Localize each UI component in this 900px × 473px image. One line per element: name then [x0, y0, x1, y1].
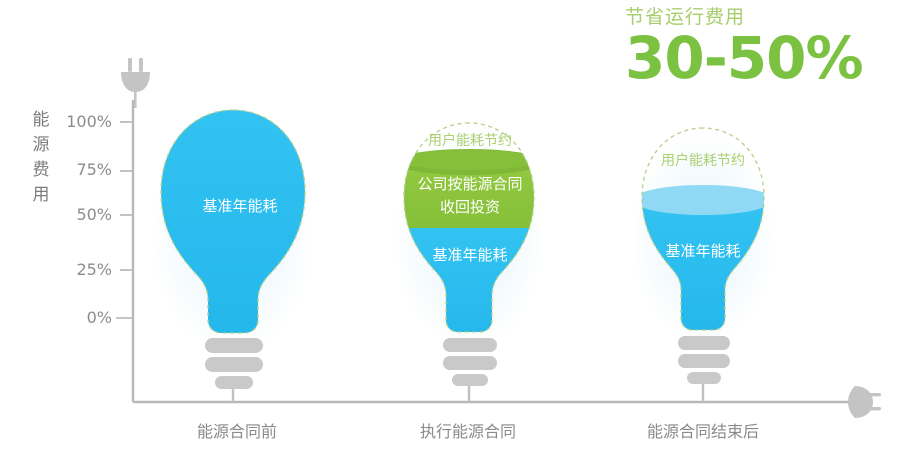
y-tick-label-75: 75% — [50, 160, 112, 179]
bulb-during-contract[interactable] — [394, 123, 545, 386]
power-plug-icon — [121, 58, 150, 108]
y-axis-ticks — [116, 122, 133, 318]
x-label-before-contract: 能源合同前 — [147, 418, 327, 442]
bulb1-base — [205, 338, 263, 389]
headline-block: 节省运行费用 30-50% — [625, 4, 895, 88]
y-axis-title-text: 能源费用 — [33, 110, 50, 205]
bulb2-recovery-top-highlight — [399, 150, 539, 170]
bulb3-base — [678, 336, 730, 384]
headline-value: 30-50% — [625, 28, 895, 88]
y-tick-label-0: 0% — [50, 308, 112, 327]
bulb2-base — [443, 338, 497, 386]
y-tick-label-25: 25% — [50, 260, 112, 279]
bulb3-liquid-surface — [633, 185, 773, 215]
power-socket-icon — [848, 386, 881, 418]
x-label-during-contract: 执行能源合同 — [378, 418, 558, 442]
y-tick-label-50: 50% — [50, 205, 112, 224]
bulb-after-contract[interactable] — [631, 128, 775, 384]
infographic-chart: 节省运行费用 30-50% 能源费用 100% 75% 50% 25% 0% 能… — [0, 0, 900, 473]
y-tick-label-100: 100% — [50, 112, 112, 131]
x-label-after-contract: 能源合同结束后 — [613, 418, 793, 442]
bulb-before-contract[interactable] — [150, 100, 320, 389]
